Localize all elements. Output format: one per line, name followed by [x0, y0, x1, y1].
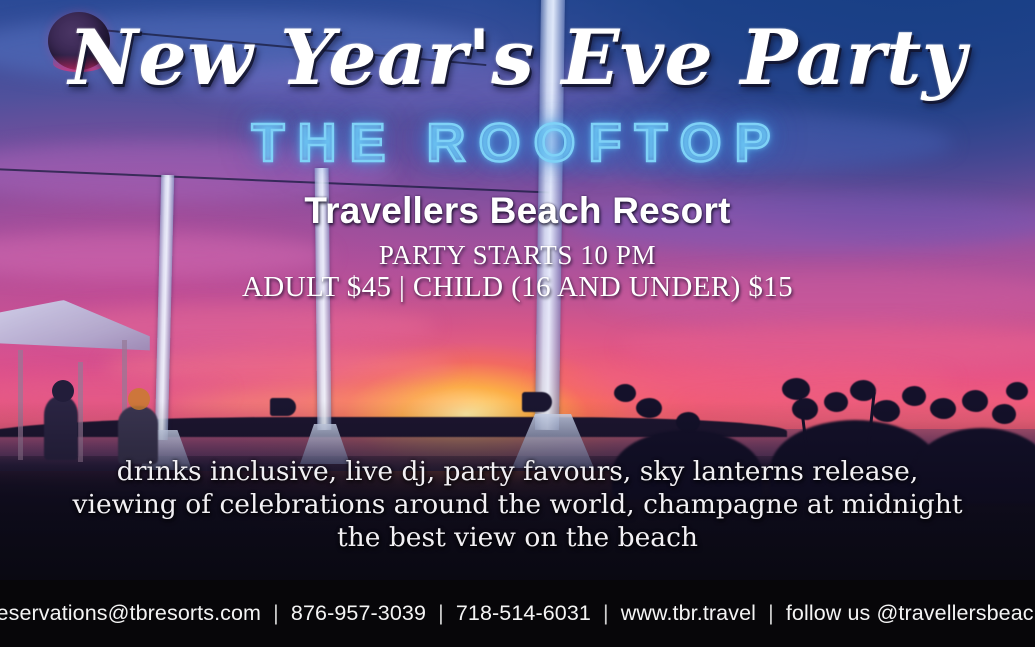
- feature-line: viewing of celebrations around the world…: [0, 488, 1035, 521]
- resort-name: Travellers Beach Resort: [0, 190, 1035, 232]
- ticket-pricing: ADULT $45 | CHILD (16 AND UNDER) $15: [0, 271, 1035, 304]
- contact-info: reservations@tbresorts.com | 876-957-303…: [0, 601, 1035, 626]
- separator: |: [267, 601, 285, 625]
- contact-footer-bar: reservations@tbresorts.com | 876-957-303…: [0, 580, 1035, 647]
- nye-party-poster: New Year's Eve Party THE ROOFTOP Travell…: [0, 0, 1035, 647]
- neon-venue-title: THE ROOFTOP: [0, 116, 1035, 170]
- separator: |: [597, 601, 615, 625]
- feature-line: drinks inclusive, live dj, party favours…: [0, 455, 1035, 488]
- contact-website[interactable]: www.tbr.travel: [621, 601, 756, 625]
- separator: |: [762, 601, 780, 625]
- feature-line: the best view on the beach: [0, 521, 1035, 554]
- page-title: New Year's Eve Party: [0, 18, 1035, 98]
- poster-text-layer: New Year's Eve Party THE ROOFTOP Travell…: [0, 0, 1035, 647]
- party-start-time: PARTY STARTS 10 PM: [0, 240, 1035, 271]
- contact-phone-secondary[interactable]: 718-514-6031: [456, 601, 591, 625]
- contact-social-handle[interactable]: follow us @travellersbeach: [786, 601, 1035, 625]
- separator: |: [432, 601, 450, 625]
- contact-phone-primary[interactable]: 876-957-3039: [291, 601, 426, 625]
- contact-email[interactable]: reservations@tbresorts.com: [0, 601, 261, 625]
- features-list: drinks inclusive, live dj, party favours…: [0, 455, 1035, 554]
